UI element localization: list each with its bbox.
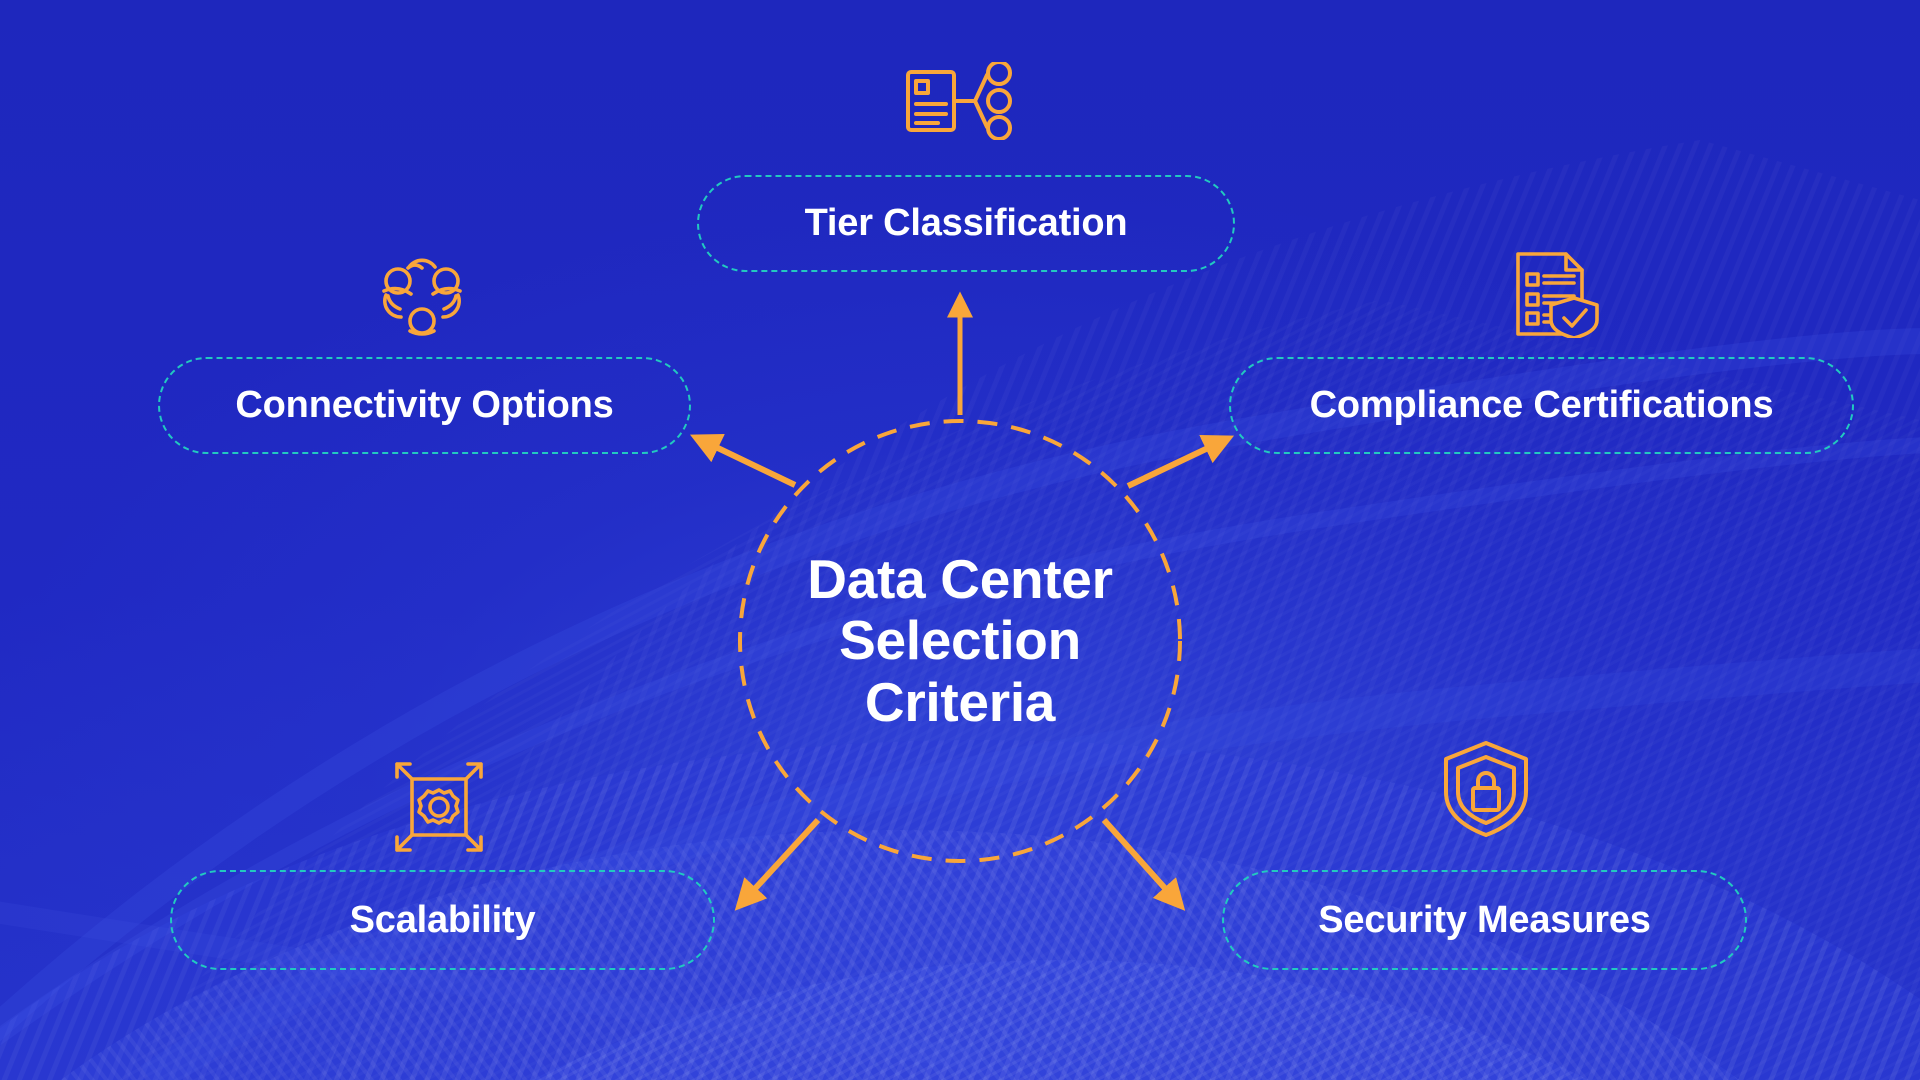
node-tier-classification[interactable]: Tier Classification [697,175,1235,272]
node-label-compliance-certifications: Compliance Certifications [1310,384,1774,427]
diagram-canvas: Data Center Selection Criteria Tier Clas… [0,0,1920,1080]
node-label-security-measures: Security Measures [1318,899,1650,942]
hub-title: Data Center Selection Criteria [795,549,1125,734]
node-connectivity-options[interactable]: Connectivity Options [158,357,691,454]
node-label-tier-classification: Tier Classification [805,202,1128,245]
central-hub[interactable]: Data Center Selection Criteria [737,418,1183,864]
node-security-measures[interactable]: Security Measures [1222,870,1747,970]
node-scalability[interactable]: Scalability [170,870,715,970]
node-compliance-certifications[interactable]: Compliance Certifications [1229,357,1854,454]
node-label-connectivity-options: Connectivity Options [235,384,613,427]
node-label-scalability: Scalability [350,899,536,942]
